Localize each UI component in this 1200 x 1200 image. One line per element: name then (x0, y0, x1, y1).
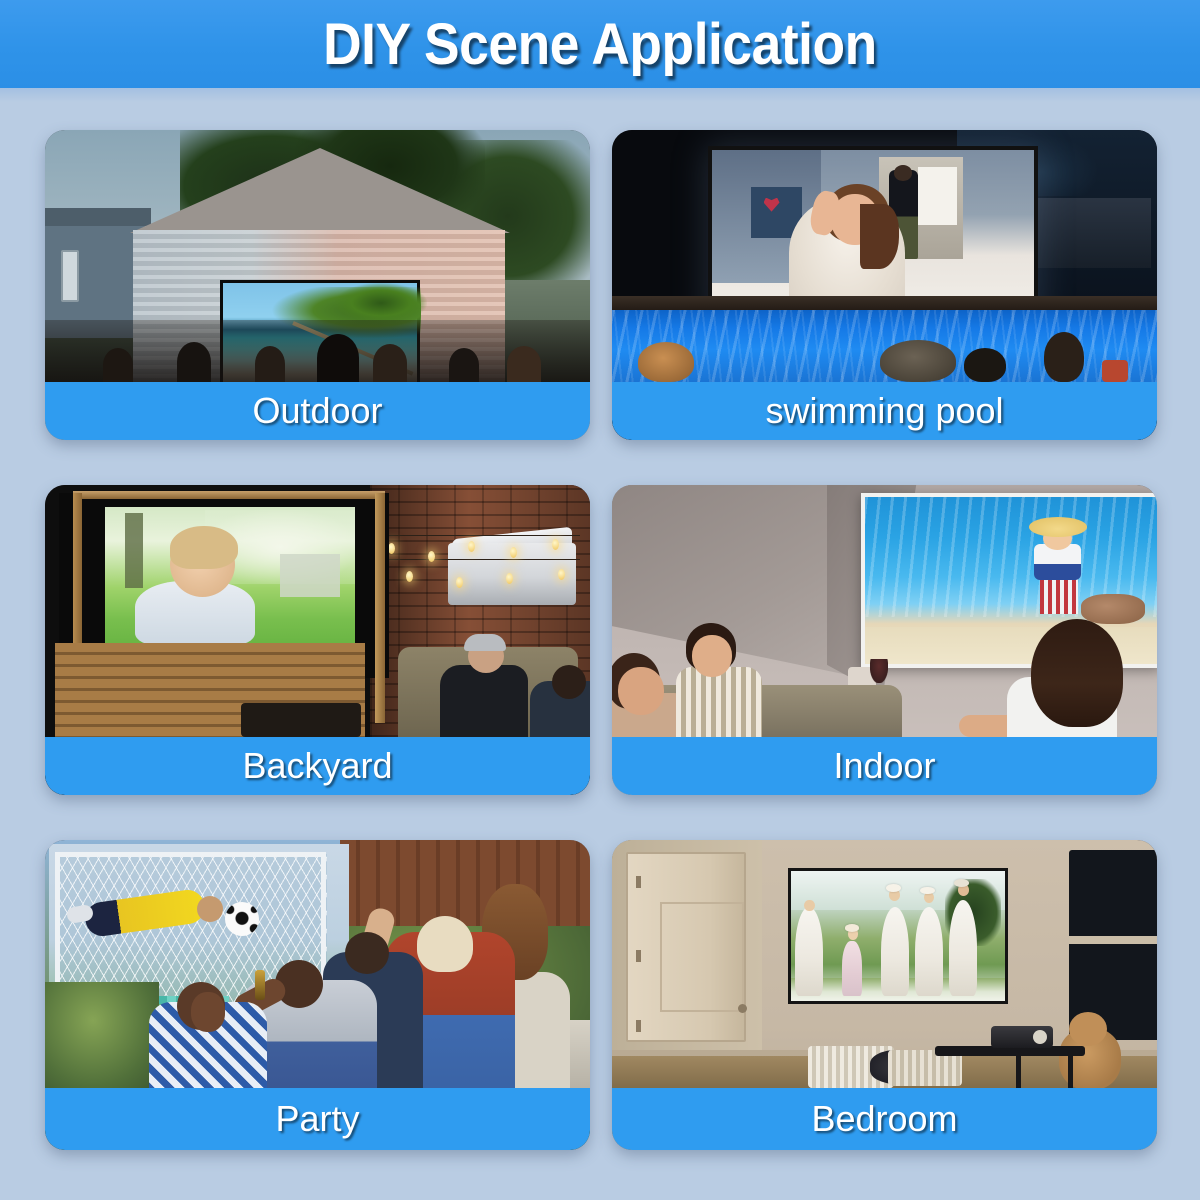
window-mullion (1069, 936, 1157, 944)
toddler-hair (170, 526, 238, 569)
card-label: Backyard (242, 745, 392, 787)
viewer-head (373, 344, 407, 382)
light-wire (370, 559, 580, 560)
soccer-ball-icon (225, 902, 259, 936)
card-caption: swimming pool (612, 382, 1157, 440)
painting-figure (881, 907, 909, 995)
swimmer-head (638, 342, 694, 382)
viewer-head (507, 346, 541, 382)
scene-card-swimming-pool[interactable]: swimming pool (612, 130, 1157, 440)
painting-figure (795, 907, 823, 995)
viewer-body (676, 667, 762, 737)
painting-child (842, 941, 861, 996)
card-label: Bedroom (811, 1098, 957, 1140)
painting-figure (949, 900, 977, 996)
straw-hat (1029, 517, 1087, 537)
light-bulb-icon (506, 573, 513, 584)
viewer-head (552, 665, 586, 699)
building-right (1021, 198, 1151, 268)
tree-trunk (125, 513, 143, 587)
scene-card-indoor[interactable]: Indoor (612, 485, 1157, 795)
card-label: Outdoor (252, 390, 382, 432)
viewer-head (692, 635, 732, 677)
palm-fronds-2 (335, 283, 427, 323)
light-bulb-icon (510, 547, 517, 558)
movie-woman-hair-side (860, 204, 899, 269)
screen-frame-top (73, 491, 385, 499)
viewer-head (177, 342, 211, 382)
side-table (241, 703, 361, 737)
hedge-left (45, 982, 159, 1092)
bedroom-door[interactable] (626, 852, 746, 1042)
viewer-head (103, 348, 133, 382)
baseball-cap (464, 634, 506, 651)
projector-lens (1033, 1030, 1047, 1044)
scene-card-outdoor[interactable]: Outdoor (45, 130, 590, 440)
door-knob[interactable] (738, 1004, 747, 1013)
light-bulb-icon (406, 571, 413, 582)
drink-bottle (255, 970, 265, 1000)
door-panel (660, 902, 744, 1012)
card-caption: Outdoor (45, 382, 590, 440)
light-bulb-icon (456, 577, 463, 588)
light-bulb-icon (468, 541, 475, 552)
movie-window (918, 167, 957, 225)
movie-man-head (894, 165, 912, 180)
neighbor-window (61, 250, 79, 302)
light-bulb-icon (388, 543, 395, 554)
light-wire (370, 535, 580, 536)
light-bulb-icon (552, 539, 559, 550)
viewer-head (618, 667, 664, 715)
goalkeeper-head (197, 896, 223, 922)
card-label: Party (275, 1098, 359, 1140)
page-header: DIY Scene Application (0, 0, 1200, 88)
card-label: swimming pool (765, 390, 1003, 432)
scene-grid: Outdoor (45, 130, 1157, 1170)
swimmer-head (1044, 332, 1084, 382)
background-house (280, 554, 340, 597)
teddy-bear-head (1069, 1012, 1107, 1046)
table-leg (1016, 1054, 1021, 1092)
light-bulb-icon (558, 569, 565, 580)
light-bulb-icon (428, 551, 435, 562)
rocks (1081, 594, 1145, 624)
door-hinge (636, 876, 641, 888)
guest-face (191, 992, 225, 1032)
child-legs (1040, 577, 1078, 614)
painting-hat (886, 884, 901, 892)
header-fade (0, 88, 1200, 102)
screen-frame-right (375, 493, 385, 723)
door-hinge (636, 950, 641, 962)
goal-crossbar (55, 852, 326, 857)
bedroom-window (1069, 850, 1157, 1040)
card-caption: Bedroom (612, 1088, 1157, 1150)
viewer-head (449, 348, 479, 382)
toddler-projection (105, 507, 355, 662)
neighbor-roof (45, 208, 151, 226)
swimmer-head (964, 348, 1006, 382)
scene-card-party[interactable]: Party (45, 840, 590, 1150)
viewer-body (440, 665, 528, 737)
guest-head (417, 916, 473, 972)
painting-figure-head (804, 900, 815, 912)
viewer-head (317, 334, 359, 382)
door-hinge (636, 1020, 641, 1032)
swimmer-head (1102, 360, 1128, 382)
flower-vase (870, 659, 888, 683)
guest-head (345, 932, 389, 974)
viewer-head (255, 346, 285, 382)
movie-projection (712, 150, 1034, 320)
card-caption: Indoor (612, 737, 1157, 795)
painting-projection (791, 871, 1005, 1001)
card-caption: Backyard (45, 737, 590, 795)
projector-screen (788, 868, 1008, 1004)
painting-hat (954, 879, 969, 887)
card-label: Indoor (833, 745, 935, 787)
scene-card-backyard[interactable]: Backyard (45, 485, 590, 795)
table-leg (1068, 1054, 1073, 1092)
painting-figure (915, 907, 943, 995)
viewer-hair (1031, 619, 1123, 727)
card-caption: Party (45, 1088, 590, 1150)
page-title: DIY Scene Application (323, 11, 877, 78)
scene-card-bedroom[interactable]: Bedroom (612, 840, 1157, 1150)
swimmer-head (880, 340, 956, 382)
pool-deck (612, 296, 1157, 310)
